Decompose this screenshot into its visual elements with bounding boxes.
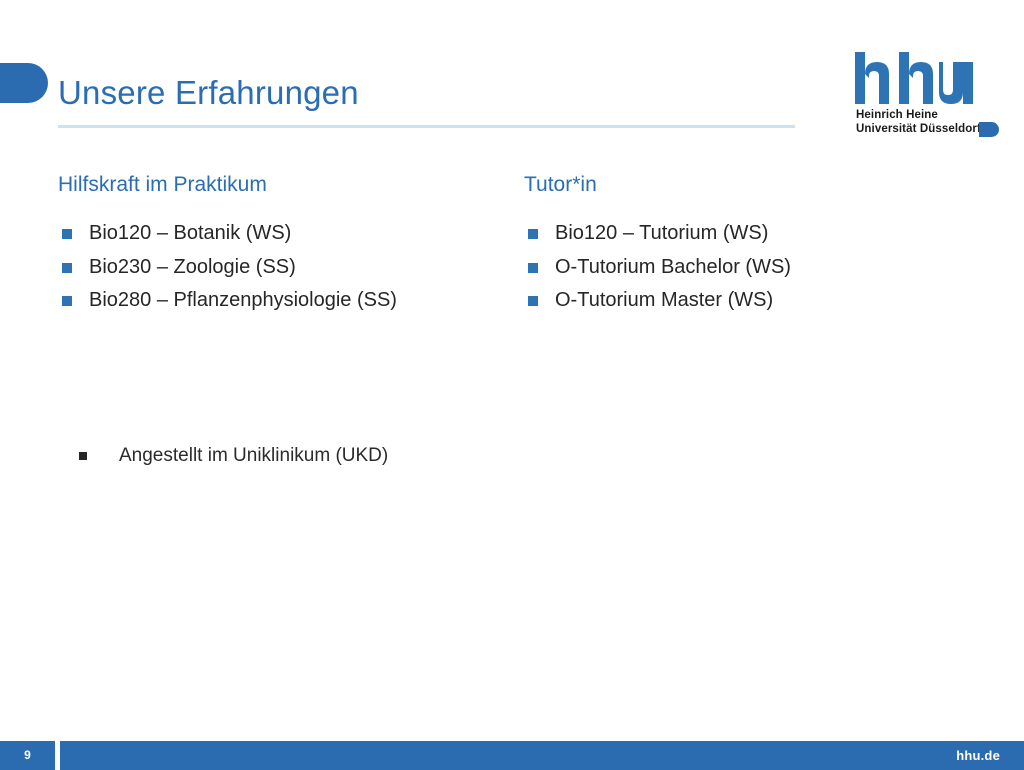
page-number: 9 — [0, 741, 55, 770]
list-item-label: Bio230 – Zoologie (SS) — [89, 256, 296, 278]
column-heading-tutor: Tutor*in — [524, 172, 984, 198]
footer-url: hhu.de — [956, 741, 1000, 770]
square-bullet-icon — [528, 263, 538, 273]
list-item-label: Bio280 – Pflanzenphysiologie (SS) — [89, 289, 397, 311]
slide: Unsere Erfahrungen Heinrich Heine Univer… — [0, 0, 1024, 770]
list-item-label: Bio120 – Tutorium (WS) — [555, 222, 768, 244]
square-bullet-icon — [62, 229, 72, 239]
square-bullet-icon — [62, 263, 72, 273]
square-bullet-icon — [528, 296, 538, 306]
list-item: O-Tutorium Master (WS) — [524, 284, 984, 318]
list-item-label: Bio120 – Botanik (WS) — [89, 222, 291, 244]
logo-subtitle: Heinrich Heine Universität Düsseldorf — [856, 108, 981, 136]
page-title: Unsere Erfahrungen — [58, 73, 359, 113]
list-item: Bio230 – Zoologie (SS) — [58, 251, 498, 285]
list-item-label: O-Tutorium Bachelor (WS) — [555, 256, 791, 278]
square-bullet-icon — [79, 452, 87, 460]
title-divider — [58, 125, 795, 128]
logo-subtitle-line2: Universität Düsseldorf — [856, 122, 981, 136]
header-accent-shape — [0, 63, 48, 103]
logo-subtitle-line1: Heinrich Heine — [856, 108, 981, 122]
list-item: O-Tutorium Bachelor (WS) — [524, 251, 984, 285]
column-tutor: Tutor*in Bio120 – Tutorium (WS) O-Tutori… — [524, 172, 984, 318]
footer-page-block: 9 — [0, 741, 55, 770]
hhu-wordmark-icon — [855, 52, 985, 104]
column-hilfskraft: Hilfskraft im Praktikum Bio120 – Botanik… — [58, 172, 498, 318]
hhu-logo: Heinrich Heine Universität Düsseldorf — [855, 52, 1000, 144]
note-label: Angestellt im Uniklinikum (UKD) — [119, 445, 388, 466]
list-item: Bio280 – Pflanzenphysiologie (SS) — [58, 284, 498, 318]
square-bullet-icon — [528, 229, 538, 239]
note-bullet: Angestellt im Uniklinikum (UKD) — [79, 441, 388, 471]
list-item: Bio120 – Tutorium (WS) — [524, 217, 984, 251]
footer-bar: hhu.de — [60, 741, 1024, 770]
bullet-list-hilfskraft: Bio120 – Botanik (WS) Bio230 – Zoologie … — [58, 217, 498, 318]
column-heading-hilfskraft: Hilfskraft im Praktikum — [58, 172, 498, 198]
list-item-label: O-Tutorium Master (WS) — [555, 289, 773, 311]
logo-accent-shape — [979, 122, 999, 137]
list-item: Bio120 – Botanik (WS) — [58, 217, 498, 251]
square-bullet-icon — [62, 296, 72, 306]
bullet-list-tutor: Bio120 – Tutorium (WS) O-Tutorium Bachel… — [524, 217, 984, 318]
